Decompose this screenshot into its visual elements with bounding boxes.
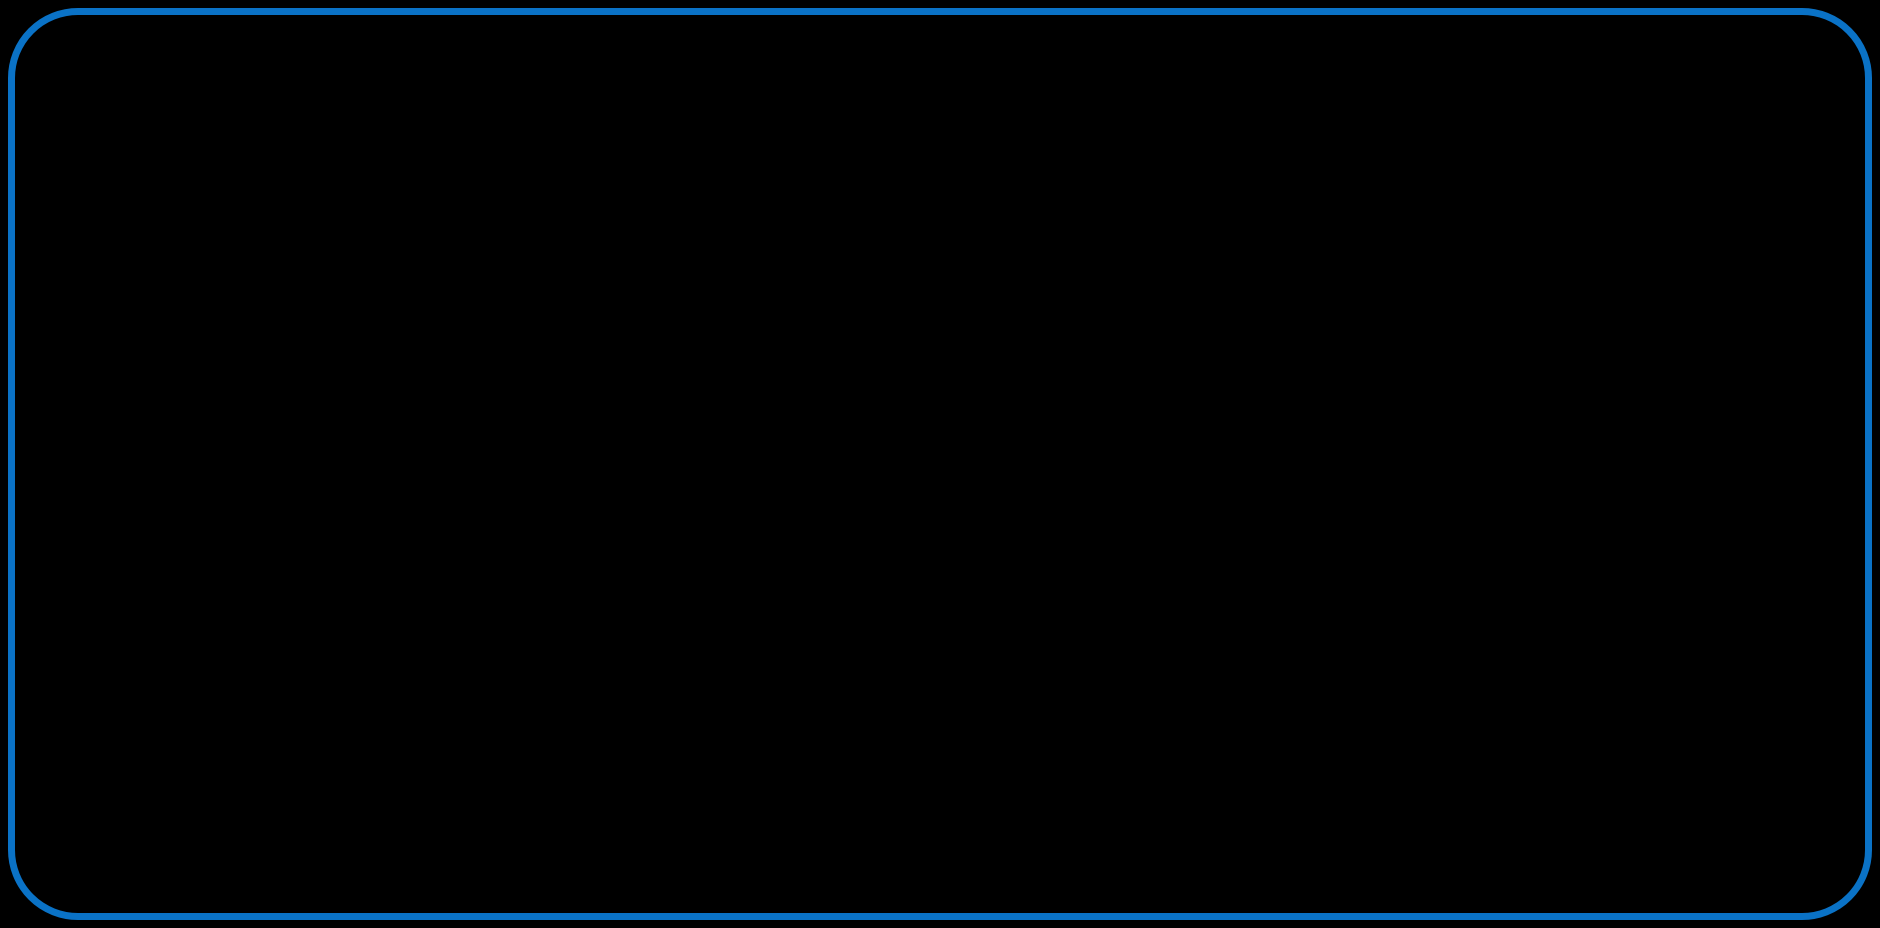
portrait-eye-left: [1531, 310, 1565, 323]
slide-subtitle: 陆军军医大学新桥医院血液病医学中心 王 峥: [120, 560, 1150, 674]
emblem-center-glyph: A: [1114, 75, 1164, 125]
slide-title-line-1: Tracking lineage history of cells using: [118, 200, 1162, 261]
lecture-caption: 王峥教授 学术报告: [0, 826, 1880, 891]
slide-background-photo: 910 Flag Re Abnormal: [670, 50, 1380, 795]
emblem-top-text: 中国人民解放军陆军军医大学: [1104, 69, 1176, 76]
slide-title: Tracking lineage history of cells using …: [60, 200, 1220, 323]
stethoscope-stem: [766, 330, 886, 416]
presentation-slide[interactable]: 910 Flag Re Abnormal: [60, 50, 1380, 795]
portrait-eye-right: [1617, 310, 1651, 323]
hospital-emblem-icon: 中国人民解放军陆军军医大学 A XINQIAO HOSPITAL: [1101, 62, 1177, 138]
screen-root: 910 Flag Re Abnormal: [0, 0, 1880, 928]
hospital-logo: 中国人民解放军陆军军医大学 A XINQIAO HOSPITAL 陆军军医大学 …: [1101, 62, 1354, 138]
portrait-mouth: [1566, 378, 1618, 393]
portrait-hair-side-left: [1504, 246, 1530, 326]
logo-hospital-name: 新桥医院: [1187, 85, 1354, 121]
logo-english-name: XINQIAO HOSPITAL, ARMY MEDICAL UNIVERSIT…: [1187, 124, 1354, 130]
speaker-name: 王 峥: [120, 630, 1150, 674]
slide-title-line-2: cellular barcoding: [118, 261, 1162, 322]
portrait-tie-knot: [1574, 468, 1610, 500]
speaker-portrait-photo: [1380, 150, 1800, 578]
hospital-wordmark: 陆军军医大学 新桥医院 XINQIAO HOSPITAL, ARMY MEDIC…: [1187, 70, 1354, 130]
speaker-affiliation: 陆军军医大学新桥医院血液病医学中心: [120, 560, 1150, 604]
emblem-bottom-text: XINQIAO HOSPITAL: [1112, 126, 1167, 132]
portrait-nose: [1576, 322, 1606, 364]
portrait-hair-side-right: [1652, 246, 1678, 326]
